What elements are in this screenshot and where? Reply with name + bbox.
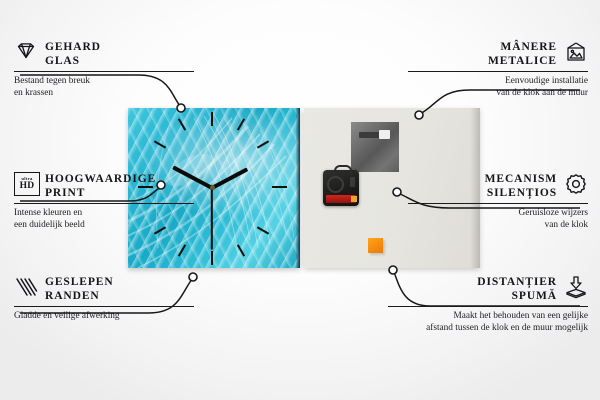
wire-dot-manere-metalice — [415, 111, 423, 119]
feature-title: HOOGWAARDIGE PRINT — [45, 172, 156, 200]
picture-hanger-icon — [564, 40, 588, 64]
feature-description: Bestand tegen breuk en krassen — [14, 76, 194, 99]
feature-header: ultra HD HOOGWAARDIGE PRINT — [14, 172, 194, 200]
feature-header: MÂNERE METALICE — [408, 40, 588, 68]
feature-description: Maakt het behouden van een gelijke afsta… — [388, 311, 588, 334]
gear-icon — [564, 172, 588, 196]
feature-divider — [14, 203, 194, 204]
wire-dot-gehard-glas — [177, 104, 185, 112]
beveled-edges-icon — [14, 275, 38, 299]
infographic-canvas: GEHARD GLAS Bestand tegen breuk en krass… — [0, 0, 600, 400]
feature-distantier-spuma: DISTANȚIER SPUMĂ Maakt het behouden van … — [388, 275, 588, 334]
feature-divider — [388, 306, 588, 307]
ultra-hd-icon: ultra HD — [14, 172, 38, 196]
feature-manere-metalice: MÂNERE METALICE Eenvoudige installatie v… — [408, 40, 588, 99]
feature-title: DISTANȚIER SPUMĂ — [477, 275, 557, 303]
feature-gehard-glas: GEHARD GLAS Bestand tegen breuk en krass… — [14, 40, 194, 99]
feature-title: MÂNERE METALICE — [488, 40, 557, 68]
feature-description: Eenvoudige installatie van de klok aan d… — [408, 76, 588, 99]
feature-header: MECANISM SILENȚIOS — [408, 172, 588, 200]
feature-divider — [14, 71, 194, 72]
feature-header: DISTANȚIER SPUMĂ — [388, 275, 588, 303]
feature-description: Gladde en veilige afwerking — [14, 311, 194, 323]
feature-mecanism-silentios: MECANISM SILENȚIOS Geruisloze wijzers va… — [408, 172, 588, 231]
spacer-down-arrow-icon — [564, 275, 588, 299]
feature-description: Geruisloze wijzers van de klok — [408, 208, 588, 231]
feature-title: GESLEPEN RANDEN — [45, 275, 114, 303]
feature-header: GESLEPEN RANDEN — [14, 275, 194, 303]
feature-title: GEHARD GLAS — [45, 40, 101, 68]
feature-hoogwaardige-print: ultra HD HOOGWAARDIGE PRINT Intense kleu… — [14, 172, 194, 231]
feature-title: MECANISM SILENȚIOS — [485, 172, 557, 200]
feature-divider — [14, 306, 194, 307]
feature-divider — [408, 203, 588, 204]
feature-geslepen-randen: GESLEPEN RANDEN Gladde en veilige afwerk… — [14, 275, 194, 323]
hd-icon-lower: HD — [20, 182, 35, 192]
wire-dot-distantier-spuma — [389, 266, 397, 274]
feature-divider — [408, 71, 588, 72]
wire-dot-mecanism-silentios — [393, 188, 401, 196]
diamond-icon — [14, 40, 38, 64]
feature-header: GEHARD GLAS — [14, 40, 194, 68]
feature-description: Intense kleuren en een duidelijk beeld — [14, 208, 194, 231]
